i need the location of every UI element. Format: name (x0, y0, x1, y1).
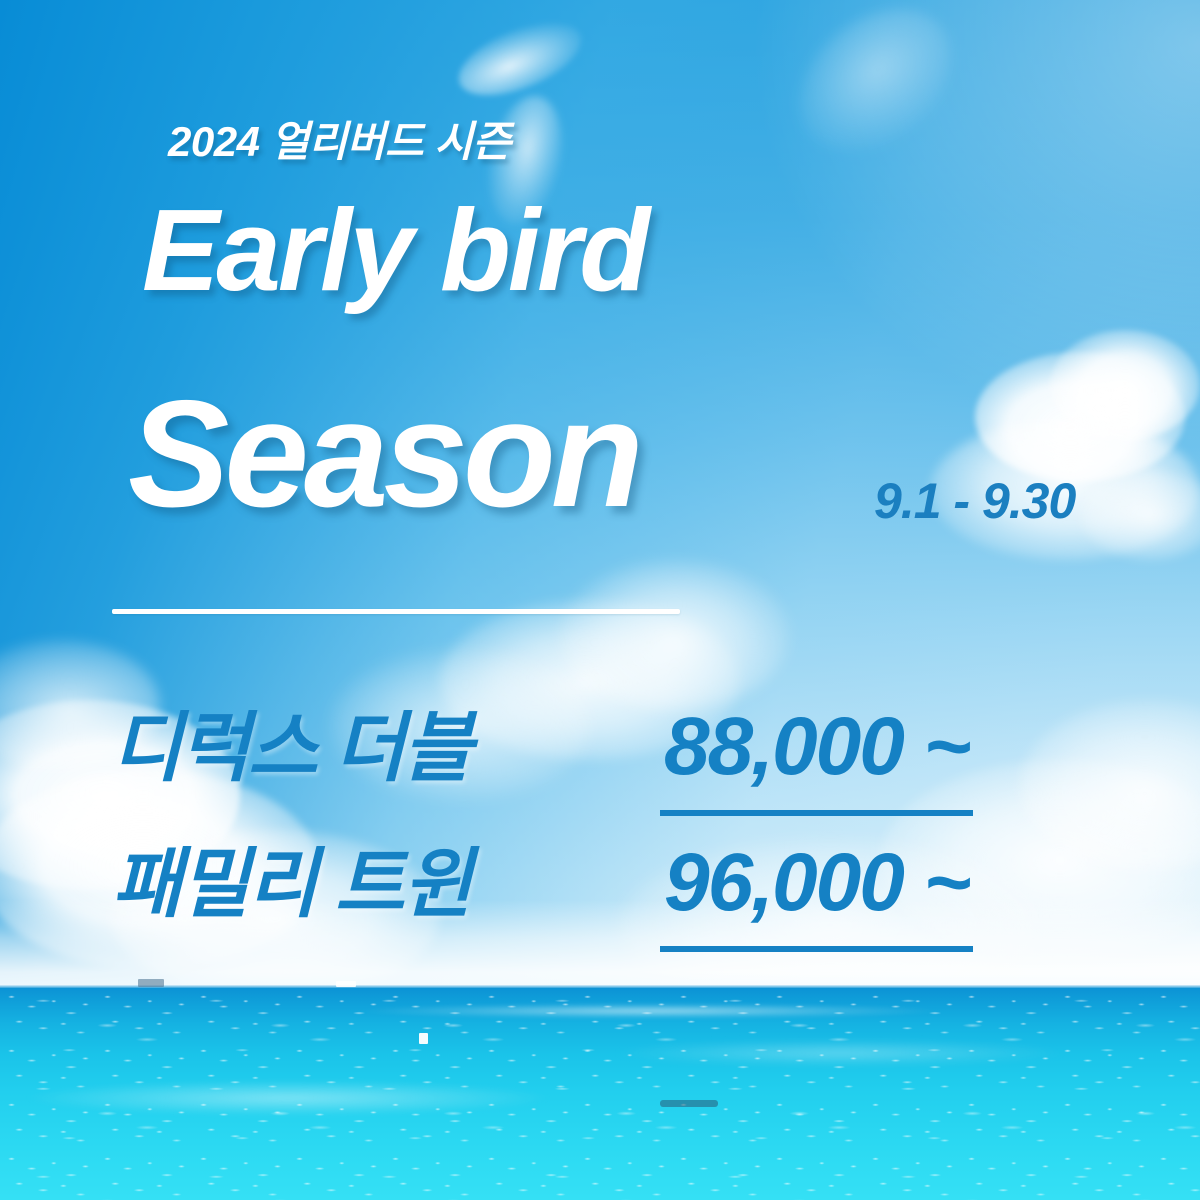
page-title-line-1: Early bird (142, 192, 647, 308)
price-value: 88,000 ~ (664, 701, 969, 792)
promo-kicker: 2024 얼리버드 시즌 (168, 108, 511, 169)
price-cell: 96,000 ~ (660, 836, 973, 952)
room-type-label: 디럭스 더블 (112, 686, 660, 796)
promo-banner: 2024 얼리버드 시즌 Early bird Season 9.1 - 9.3… (0, 0, 1200, 1200)
section-divider (112, 609, 680, 614)
price-table: 디럭스 더블 88,000 ~ 패밀리 트윈 96,000 ~ (112, 686, 1072, 958)
promo-content: 2024 얼리버드 시즌 Early bird Season 9.1 - 9.3… (0, 0, 1200, 1200)
room-type-label: 패밀리 트윈 (112, 822, 660, 932)
price-value: 96,000 ~ (664, 837, 969, 928)
page-title-line-2: Season (128, 378, 639, 530)
price-cell: 88,000 ~ (660, 700, 973, 816)
promo-date-range: 9.1 - 9.30 (874, 472, 1075, 530)
table-row: 패밀리 트윈 96,000 ~ (112, 822, 1072, 958)
table-row: 디럭스 더블 88,000 ~ (112, 686, 1072, 822)
